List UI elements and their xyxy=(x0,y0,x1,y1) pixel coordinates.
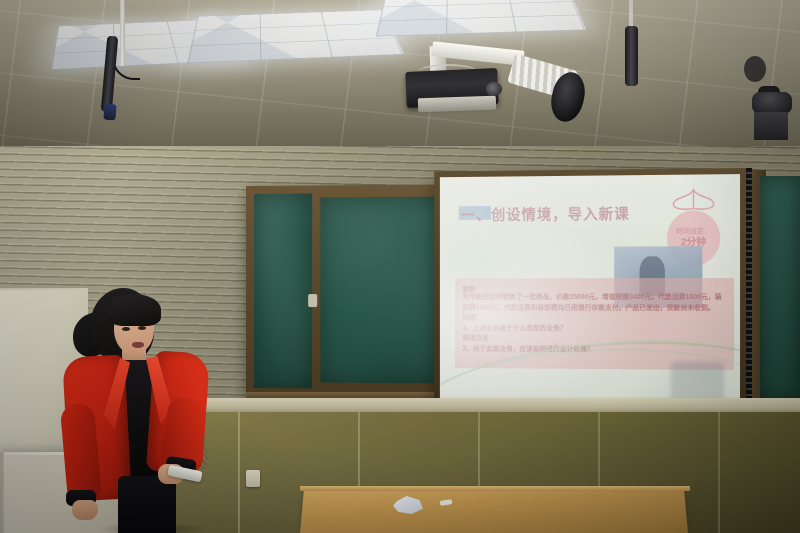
eye-right xyxy=(138,326,146,330)
trousers xyxy=(118,476,176,533)
mouth xyxy=(132,342,144,348)
camera-bracket xyxy=(754,112,788,140)
teacher-figure xyxy=(58,286,218,533)
presentation-slide: 一、创设情境，导入新课 时间设定： 2分钟 案例 光华股份公司销售了一批商品，价… xyxy=(440,174,740,414)
chalkboard-panel-left xyxy=(254,193,312,388)
wall-outlet-icon xyxy=(246,470,260,487)
slide-text-box: 案例 光华股份公司销售了一批商品，价款25000元，增值税额3400元，代垫运费… xyxy=(455,278,734,370)
projection-screen: 一、创设情境，导入新课 时间设定： 2分钟 案例 光华股份公司销售了一批商品，价… xyxy=(434,168,746,420)
slide-question-1: 1、上述业务属于什么类型的业务？ xyxy=(463,324,727,335)
slide-question-2: 2、对于此类业务，应该如何进行会计处理？ xyxy=(463,344,727,356)
camera-shadow xyxy=(744,56,766,82)
slide-case-label: 案例 xyxy=(463,283,475,293)
chalk-dust xyxy=(254,193,312,388)
slide-faint-image xyxy=(671,362,724,402)
eye-left xyxy=(122,327,130,331)
microphone-tip xyxy=(103,104,116,121)
cabinet-side-panel xyxy=(0,452,4,533)
chalkboard-panel-right xyxy=(760,176,800,402)
ornament-text: 时间设定： 2分钟 xyxy=(665,226,722,248)
projector-plate xyxy=(418,96,496,113)
hanging-microphone-icon xyxy=(625,26,638,86)
classroom-scene: 一、创设情境，导入新课 时间设定： 2分钟 案例 光华股份公司销售了一批商品，价… xyxy=(0,0,800,533)
ornament-label: 时间设定： xyxy=(676,228,711,235)
hand-left xyxy=(72,500,98,520)
slide-case-body: 光华股份公司销售了一批商品，价款25000元，增值税额3400元，代垫运费100… xyxy=(463,293,727,314)
slide-question-intro: 问题： xyxy=(463,314,727,325)
hair-front xyxy=(107,294,161,326)
slide-body-text: 光华股份公司销售了一批商品，价款25000元，增值税额3400元，代垫运费100… xyxy=(463,293,727,356)
chalkboard-clip xyxy=(308,294,317,307)
teacher-desk xyxy=(300,491,688,533)
screen-surface: 一、创设情境，导入新课 时间设定： 2分钟 案例 光华股份公司销售了一批商品，价… xyxy=(440,174,740,414)
desk-edge xyxy=(300,486,690,491)
wall-camera-icon xyxy=(752,92,792,114)
slide-title: 一、创设情境，导入新课 xyxy=(461,203,630,225)
